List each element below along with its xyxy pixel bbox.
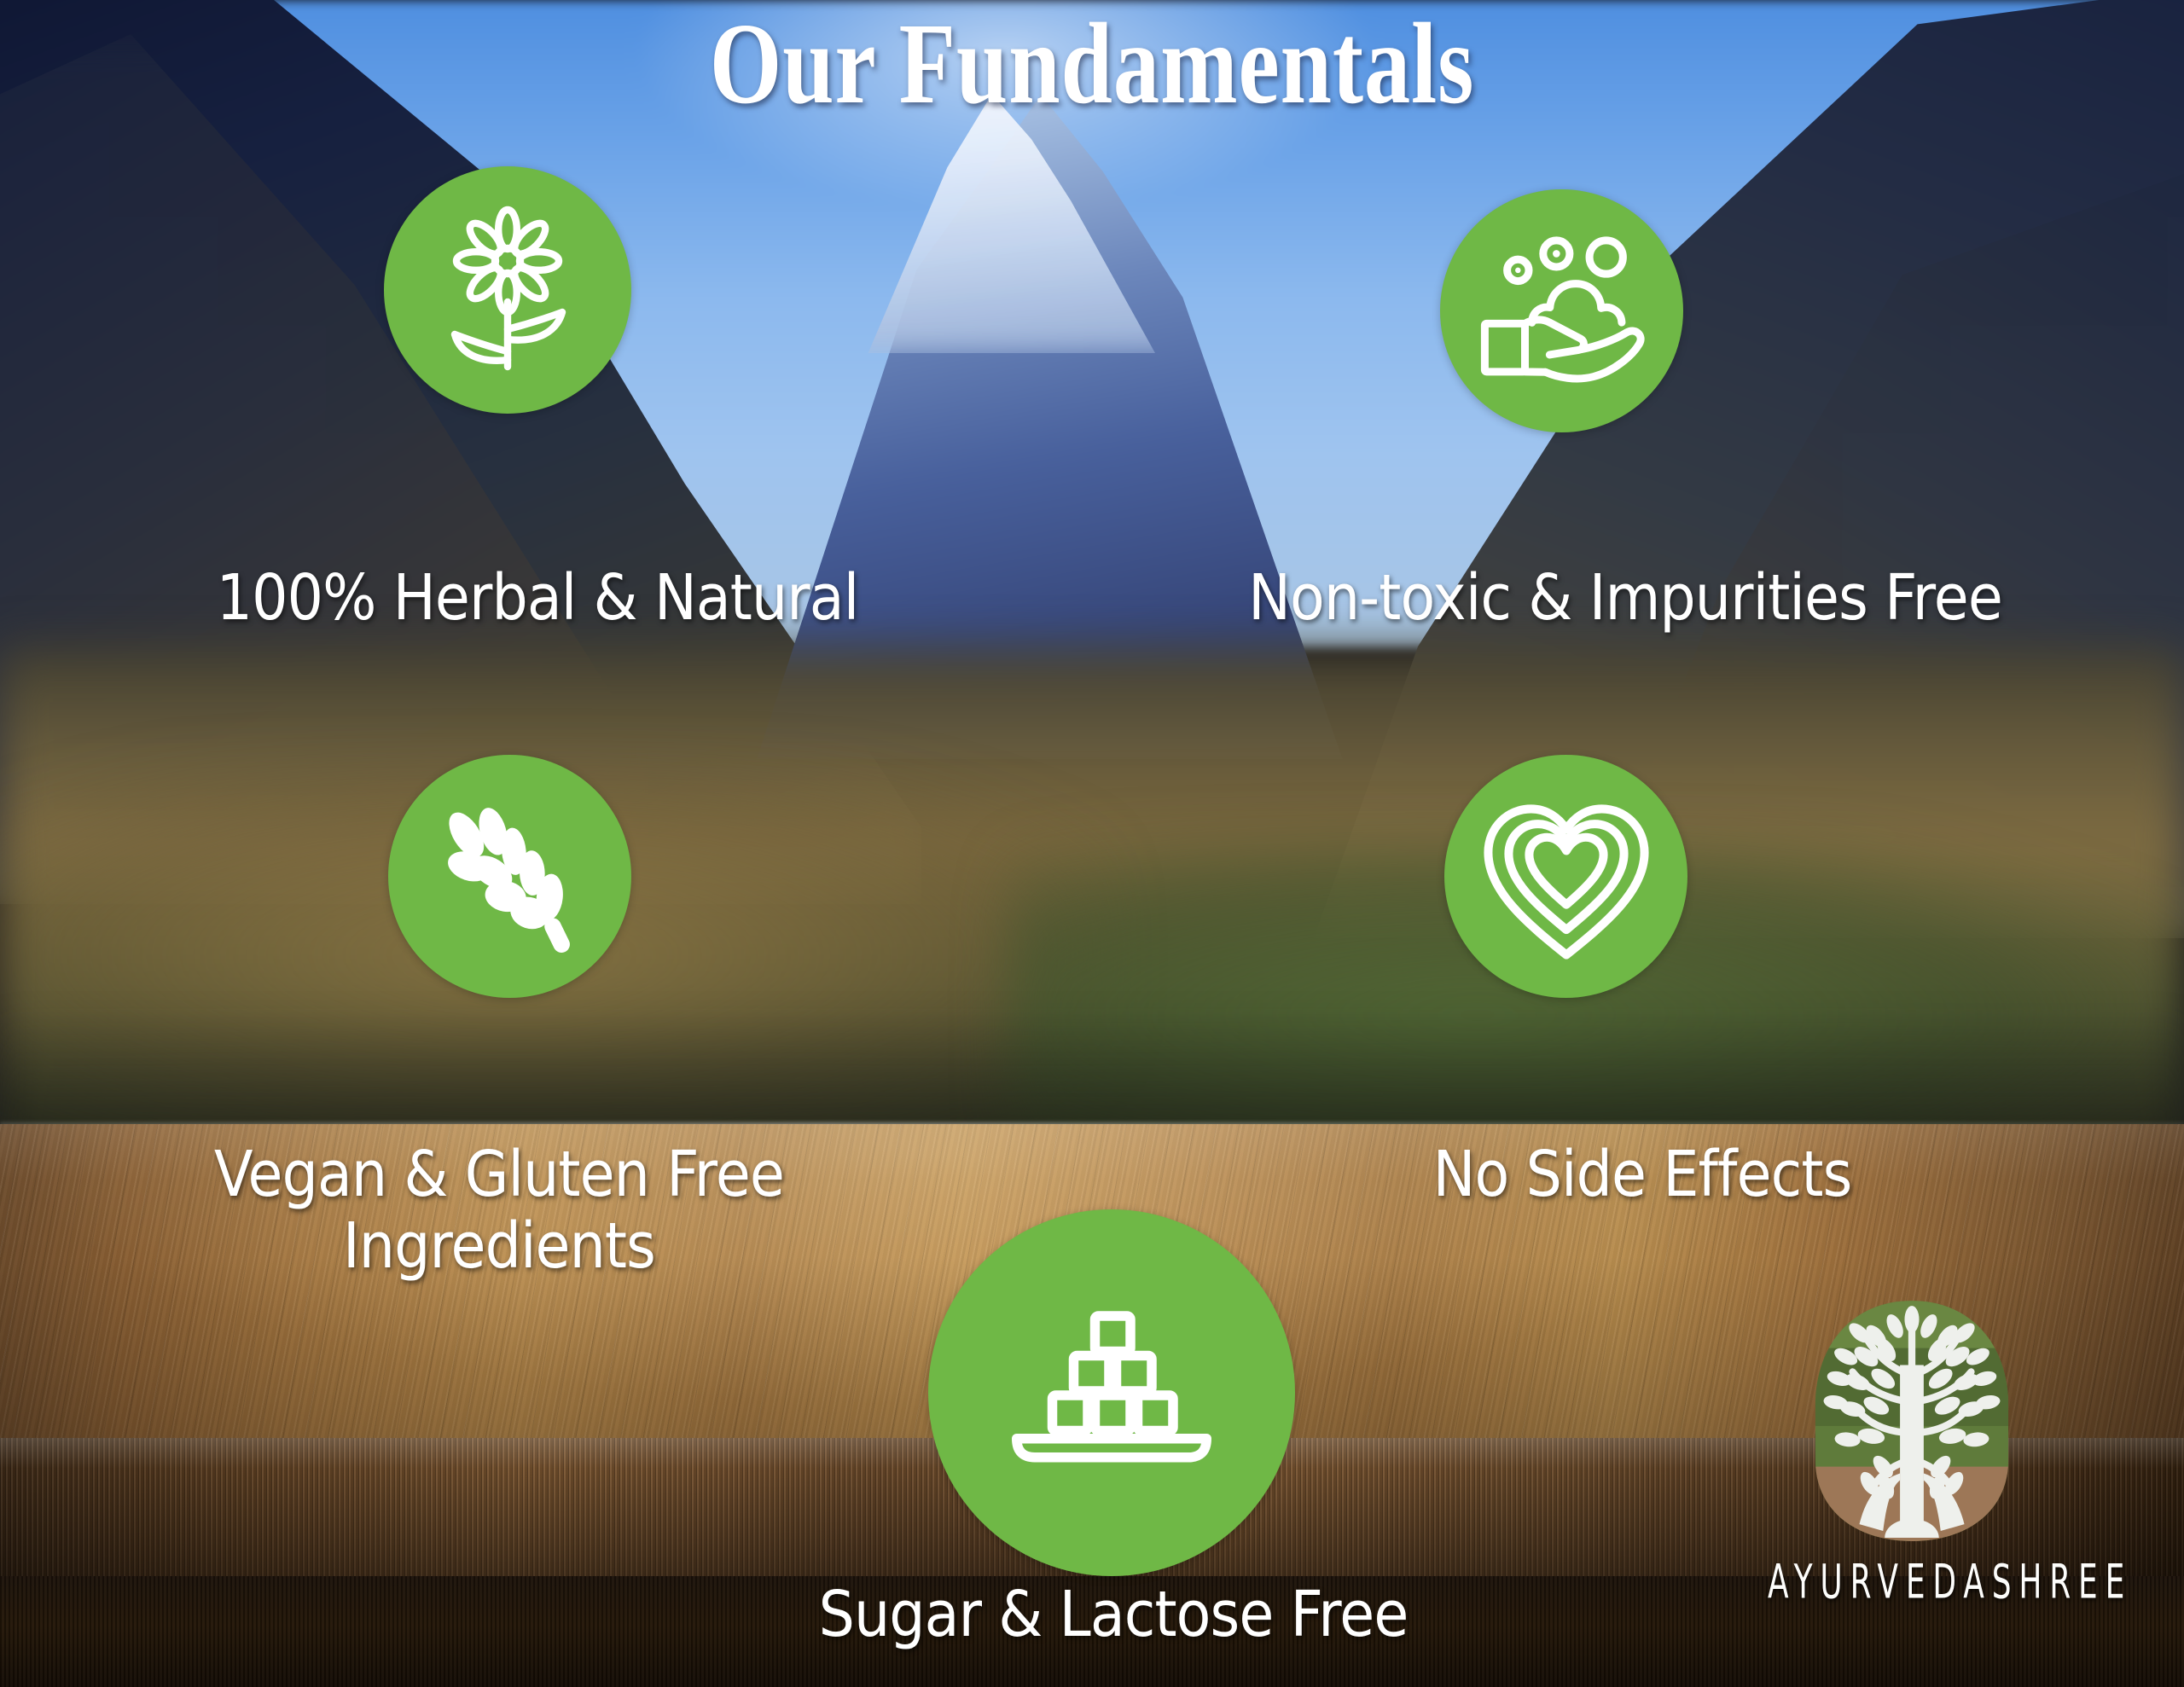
content-layer: Our Fundamentals 100% [0,0,2184,1687]
brand-name: AYURVEDASHREE [1768,1554,2054,1609]
feature-label-no-side-effects: No Side Effects [1339,1139,1946,1211]
feature-badge-non-toxic[interactable] [1440,189,1683,432]
feature-badge-herbal-natural[interactable] [384,166,631,414]
wheat-stalk-icon [427,793,593,959]
nested-heart-icon [1473,784,1659,970]
feature-label-vegan-gluten-free: Vegan & Gluten Free Ingredients [77,1139,921,1282]
feature-label-herbal-natural: 100% Herbal & Natural [107,563,967,635]
page-title: Our Fundamentals [218,5,1966,124]
feature-badge-vegan-gluten-free[interactable] [388,755,631,998]
flower-icon [422,205,593,375]
brand-logo[interactable]: AYURVEDASHREE [1783,1296,2039,1672]
hand-soap-bubbles-icon [1470,222,1653,401]
tree-logo-icon [1802,1296,2022,1552]
feature-label-sugar-lactose-free: Sugar & Lactose Free [680,1580,1548,1651]
sugar-cubes-icon [1005,1286,1218,1499]
feature-badge-sugar-lactose-free[interactable] [928,1209,1295,1576]
feature-label-non-toxic: Non-toxic & Impurities Free [1153,563,2098,635]
feature-badge-no-side-effects[interactable] [1444,755,1687,998]
